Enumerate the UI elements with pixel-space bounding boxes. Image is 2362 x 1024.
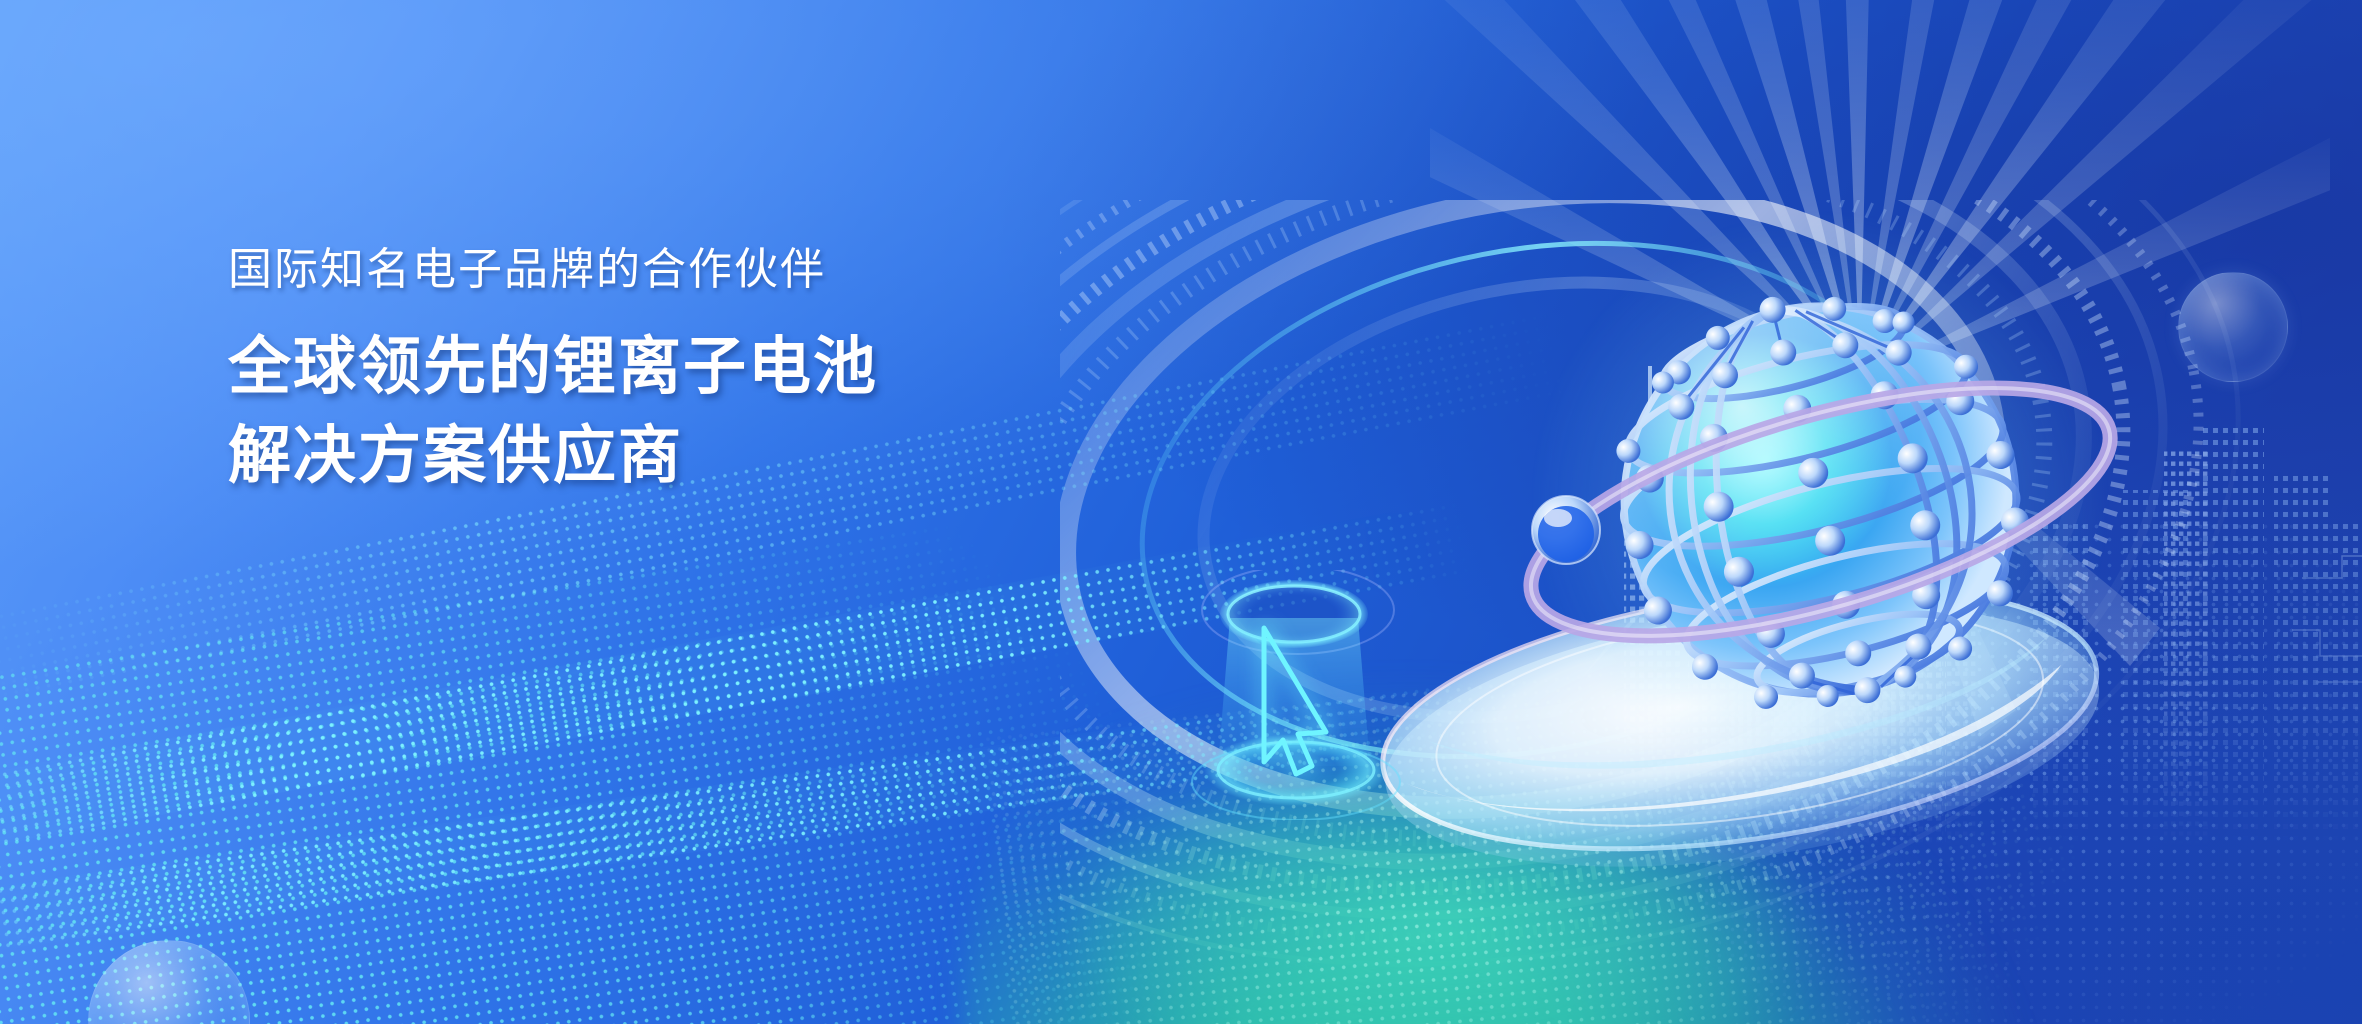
bubble-icon [2178, 272, 2288, 382]
bubble-icon [88, 940, 250, 1024]
halftone-wave-icon [0, 431, 1616, 1024]
halftone-right-icon [1700, 520, 2362, 1024]
halftone-band-icon [0, 676, 1496, 968]
hero-headline: 全球领先的锂离子电池 解决方案供应商 [228, 323, 1228, 502]
hero-banner: 国际知名电子品牌的合作伙伴 全球领先的锂离子电池 解决方案供应商 [0, 0, 2362, 1024]
halftone-band-icon [0, 499, 1473, 871]
concentric-arcs-icon [1060, 200, 2362, 1024]
wireframe-globe-icon [1420, 200, 2220, 820]
halftone-teal-icon [982, 588, 2362, 1024]
cursor-arrow-icon [1170, 570, 1440, 820]
light-rays-icon [1430, 0, 2330, 840]
hero-copy: 国际知名电子品牌的合作伙伴 全球领先的锂离子电池 解决方案供应商 [228, 243, 1228, 502]
teal-glow [960, 560, 2140, 1024]
city-skyline-icon [1602, 330, 2362, 850]
teal-glow-core [1080, 760, 1980, 1024]
hero-headline-line2: 解决方案供应商 [228, 412, 1228, 501]
hero-headline-line1: 全球领先的锂离子电池 [228, 323, 1228, 412]
background-gradient-overlay [0, 0, 2362, 1024]
hero-eyebrow: 国际知名电子品牌的合作伙伴 [228, 243, 1228, 297]
glow-platform-icon [1330, 560, 2150, 890]
